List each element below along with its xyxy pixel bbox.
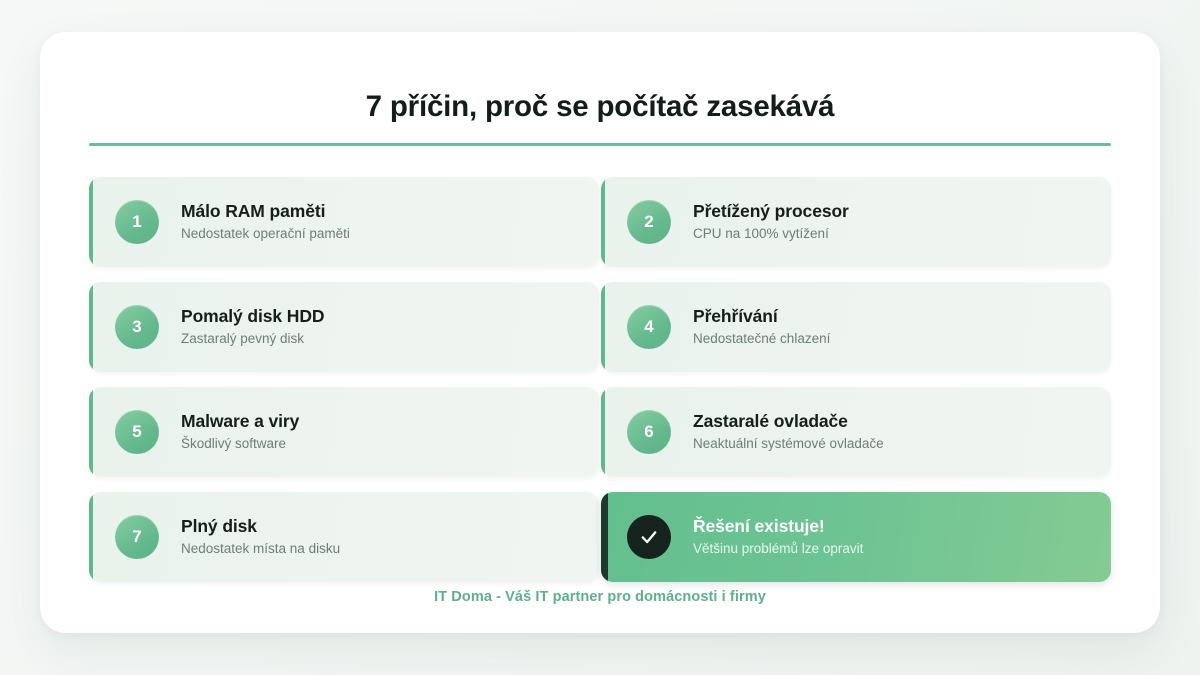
- reason-subtitle: Nedostatek operační paměti: [181, 226, 350, 242]
- reason-subtitle: Nedostatek místa na disku: [181, 541, 340, 557]
- reason-number-badge: 3: [115, 305, 159, 349]
- reason-card-4[interactable]: 4 Přehřívání Nedostatečné chlazení: [601, 282, 1111, 372]
- reason-number-badge: 1: [115, 200, 159, 244]
- solution-card[interactable]: Řešení existuje! Většinu problémů lze op…: [601, 492, 1111, 582]
- reason-number: 7: [132, 527, 141, 547]
- reason-number-badge: 4: [627, 305, 671, 349]
- reason-subtitle: Zastaralý pevný disk: [181, 331, 324, 347]
- solution-subtitle: Většinu problémů lze opravit: [693, 541, 863, 557]
- reason-subtitle: Neaktuální systémové ovladače: [693, 436, 884, 452]
- solution-title: Řešení existuje!: [693, 517, 863, 537]
- reason-title: Přetížený procesor: [693, 202, 849, 222]
- reason-text: Plný disk Nedostatek místa na disku: [181, 517, 340, 556]
- slide-canvas: 7 příčin, proč se počítač zasekává 1 Mál…: [0, 0, 1200, 675]
- reason-number-badge: 7: [115, 515, 159, 559]
- reason-title: Zastaralé ovladače: [693, 412, 884, 432]
- reason-number: 1: [132, 212, 141, 232]
- check-icon: [639, 527, 659, 547]
- reason-title: Plný disk: [181, 517, 340, 537]
- solution-text: Řešení existuje! Většinu problémů lze op…: [693, 517, 863, 556]
- reason-title: Přehřívání: [693, 307, 830, 327]
- reason-number: 6: [644, 422, 653, 442]
- reason-title: Málo RAM paměti: [181, 202, 350, 222]
- reason-text: Pomalý disk HDD Zastaralý pevný disk: [181, 307, 324, 346]
- reason-number-badge: 2: [627, 200, 671, 244]
- reason-number-badge: 6: [627, 410, 671, 454]
- reason-text: Málo RAM paměti Nedostatek operační pamě…: [181, 202, 350, 241]
- footer-tagline: IT Doma - Váš IT partner pro domácnosti …: [40, 589, 1160, 605]
- reason-text: Přehřívání Nedostatečné chlazení: [693, 307, 830, 346]
- reason-number: 4: [644, 317, 653, 337]
- reason-text: Přetížený procesor CPU na 100% vytížení: [693, 202, 849, 241]
- reason-card-3[interactable]: 3 Pomalý disk HDD Zastaralý pevný disk: [89, 282, 599, 372]
- title-divider: [89, 143, 1111, 146]
- reason-text: Zastaralé ovladače Neaktuální systémové …: [693, 412, 884, 451]
- check-badge: [627, 515, 671, 559]
- reason-card-5[interactable]: 5 Malware a viry Škodlivý software: [89, 387, 599, 477]
- reason-number: 2: [644, 212, 653, 232]
- reason-card-7[interactable]: 7 Plný disk Nedostatek místa na disku: [89, 492, 599, 582]
- reason-number: 5: [132, 422, 141, 442]
- content-panel: 7 příčin, proč se počítač zasekává 1 Mál…: [40, 32, 1160, 633]
- reason-card-6[interactable]: 6 Zastaralé ovladače Neaktuální systémov…: [601, 387, 1111, 477]
- reason-number-badge: 5: [115, 410, 159, 454]
- reason-card-2[interactable]: 2 Přetížený procesor CPU na 100% vytížen…: [601, 177, 1111, 267]
- reason-number: 3: [132, 317, 141, 337]
- reasons-grid: 1 Málo RAM paměti Nedostatek operační pa…: [89, 177, 1111, 582]
- page-title: 7 příčin, proč se počítač zasekává: [40, 90, 1160, 124]
- reason-card-1[interactable]: 1 Málo RAM paměti Nedostatek operační pa…: [89, 177, 599, 267]
- reason-subtitle: Nedostatečné chlazení: [693, 331, 830, 347]
- reason-subtitle: CPU na 100% vytížení: [693, 226, 849, 242]
- reason-subtitle: Škodlivý software: [181, 436, 299, 452]
- reason-title: Pomalý disk HDD: [181, 307, 324, 327]
- reason-text: Malware a viry Škodlivý software: [181, 412, 299, 451]
- reason-title: Malware a viry: [181, 412, 299, 432]
